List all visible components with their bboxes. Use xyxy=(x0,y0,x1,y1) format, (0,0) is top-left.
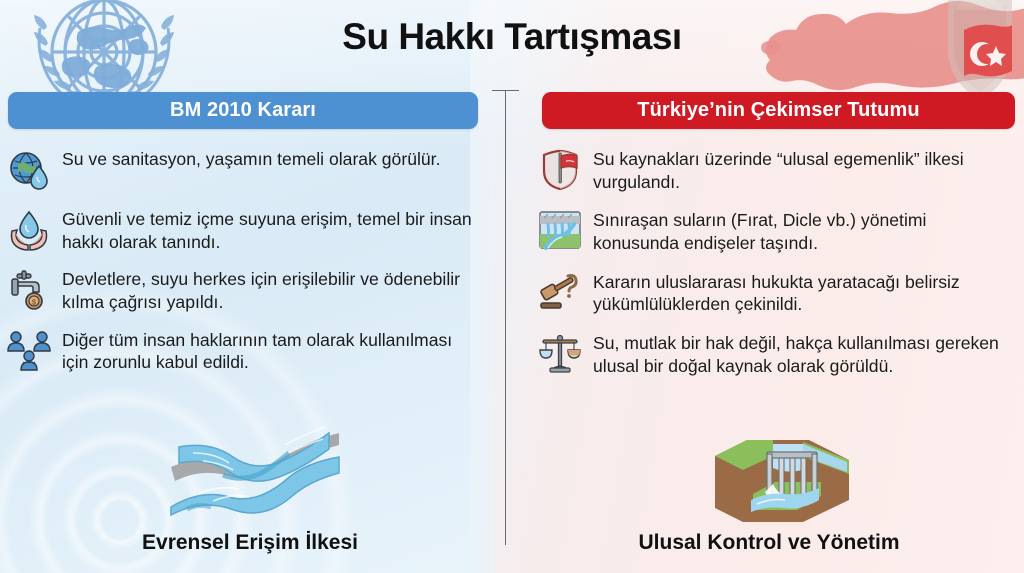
caption-left: Evrensel Erişim İlkesi xyxy=(0,531,500,555)
banner-left[interactable]: BM 2010 Kararı xyxy=(8,92,478,129)
column-divider xyxy=(505,90,506,545)
list-item-text: Devletlere, suyu herkes için erişilebili… xyxy=(62,266,476,313)
river-flow-illustration xyxy=(163,423,348,523)
list-item-text: Su kaynakları üzerinde “ulusal egemenlik… xyxy=(593,146,1014,193)
page-title: Su Hakkı Tartışması xyxy=(0,16,1024,58)
left-column: Su ve sanitasyon, yaşamın temeli olarak … xyxy=(6,146,476,387)
list-item: Güvenli ve temiz içme suyuna erişim, tem… xyxy=(6,206,476,253)
infographic-root: Su Hakkı Tartışması BM 2010 Kararı Türki… xyxy=(0,0,1024,573)
list-item: Su, mutlak bir hak değil, hakça kullanıl… xyxy=(538,330,1014,377)
list-item-text: Diğer tüm insan haklarının tam olarak ku… xyxy=(62,327,476,374)
gavel-question-icon xyxy=(538,270,582,314)
dam-river-icon xyxy=(538,208,582,252)
list-item-text: Su, mutlak bir hak değil, hakça kullanıl… xyxy=(593,330,1014,377)
list-item: Sınıraşan suların (Fırat, Dicle vb.) yön… xyxy=(538,207,1014,254)
list-item-text: Sınıraşan suların (Fırat, Dicle vb.) yön… xyxy=(593,207,1014,254)
list-item: Su kaynakları üzerinde “ulusal egemenlik… xyxy=(538,146,1014,193)
list-item: Diğer tüm insan haklarının tam olarak ku… xyxy=(6,327,476,374)
list-item: $ Devletlere, suyu herkes için erişilebi… xyxy=(6,266,476,313)
shield-flag-icon xyxy=(538,147,582,191)
faucet-coin-icon: $ xyxy=(6,267,52,313)
list-item-text: Güvenli ve temiz içme suyuna erişim, tem… xyxy=(62,206,476,253)
list-item-text: Su ve sanitasyon, yaşamın temeli olarak … xyxy=(62,146,440,171)
caption-right: Ulusal Kontrol ve Yönetim xyxy=(524,531,1014,555)
list-item: Su ve sanitasyon, yaşamın temeli olarak … xyxy=(6,146,476,193)
svg-text:$: $ xyxy=(32,300,36,307)
globe-water-drop-icon xyxy=(6,147,52,193)
right-column: Su kaynakları üzerinde “ulusal egemenlik… xyxy=(538,146,1014,392)
hydroelectric-dam-illustration xyxy=(707,428,857,528)
hands-holding-water-drop-icon xyxy=(6,207,52,253)
list-item: Kararın uluslararası hukukta yaratacağı … xyxy=(538,269,1014,316)
people-group-icon xyxy=(6,328,52,374)
banner-right[interactable]: Türkiye’nin Çekimser Tutumu xyxy=(542,92,1015,129)
list-item-text: Kararın uluslararası hukukta yaratacağı … xyxy=(593,269,1014,316)
scales-of-justice-icon xyxy=(538,331,582,375)
